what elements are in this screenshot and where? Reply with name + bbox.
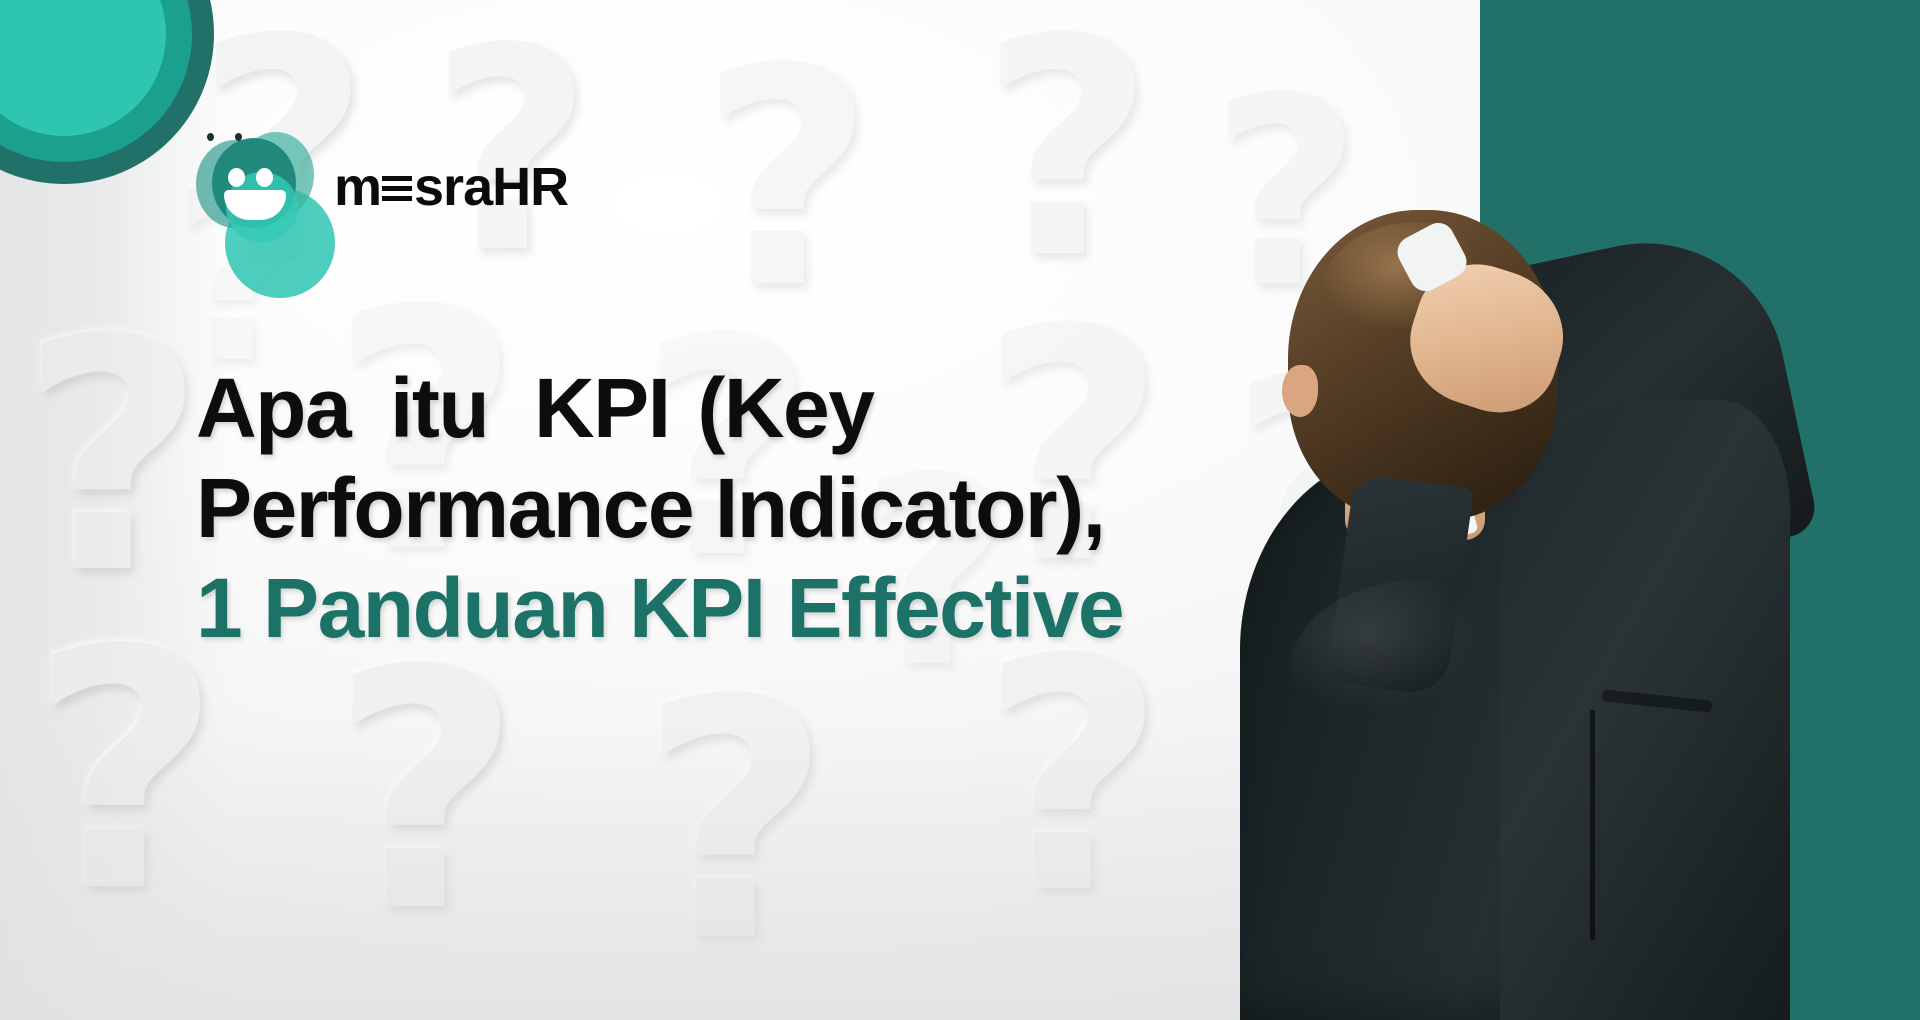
brand-logo[interactable]: m sraHR xyxy=(196,128,568,246)
headline-word-apa: Apa xyxy=(196,361,350,455)
question-mark-icon: ? xyxy=(700,60,874,300)
logo-pupil-right xyxy=(235,133,242,141)
logo-eye-left xyxy=(228,168,245,187)
brand-wordmark: m sraHR xyxy=(334,156,568,218)
person-ear xyxy=(1282,365,1318,417)
headline-line-3: 1 Panduan KPI Effective xyxy=(196,558,1316,658)
headline-word-key: (Key xyxy=(697,361,873,455)
banner-canvas: ????????????????? m sraHR xyxy=(0,0,1920,1020)
mesra-smiley-blobs-icon xyxy=(196,128,316,246)
concentric-circles-decor-icon xyxy=(0,0,214,184)
wordmark-suffix: sraHR xyxy=(414,156,568,218)
logo-pupil-left xyxy=(207,133,214,141)
person-suit-right xyxy=(1500,400,1790,1020)
person-shoulder-highlight xyxy=(1290,580,1550,760)
headline-highlight-kpi: KPI xyxy=(528,358,676,458)
page-title: Apa itu KPI (Key Performance Indicator),… xyxy=(196,358,1316,658)
question-mark-icon: ? xyxy=(980,30,1154,270)
headline-line-2: Performance Indicator), xyxy=(196,458,1316,558)
logo-face xyxy=(222,162,296,224)
businessman-photo xyxy=(1170,150,1920,1020)
headline-line-1: Apa itu KPI (Key xyxy=(196,358,1316,458)
logo-eye-right xyxy=(256,168,273,187)
headline-word-itu: itu xyxy=(390,361,488,455)
person-jacket-vent xyxy=(1590,710,1595,940)
wordmark-e-bars-icon xyxy=(382,173,412,203)
logo-smile xyxy=(224,190,286,220)
wordmark-prefix: m xyxy=(334,156,381,218)
